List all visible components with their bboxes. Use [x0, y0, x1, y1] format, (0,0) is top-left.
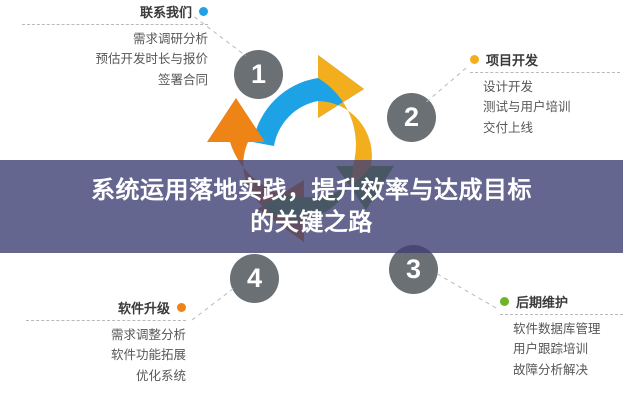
label-heading-text: 后期维护: [516, 292, 568, 311]
step-number-4: 4: [230, 254, 279, 303]
label-heading-text: 联系我们: [140, 2, 192, 21]
connector-line-3: [434, 272, 496, 308]
label-heading-text: 软件升级: [118, 298, 170, 317]
label-block-development: 项目开发 设计开发 测试与用户培训 交付上线: [470, 50, 620, 138]
step-number-2: 2: [387, 93, 436, 142]
title-overlay-band: 系统运用落地实践，提升效率与达成目标 的关键之路: [0, 160, 623, 253]
step-number-1: 1: [234, 50, 283, 99]
label-block-upgrade: 软件升级 需求调整分析 软件功能拓展 优化系统: [26, 298, 186, 386]
infographic-canvas: 1 2 3 4 联系我们 需求调研分析 预估开发时长与报价 签署合同 项目开发 …: [0, 0, 623, 400]
list-item: 需求调整分析: [26, 325, 186, 345]
label-heading-text: 项目开发: [486, 50, 538, 69]
label-heading-upgrade: 软件升级: [26, 298, 186, 320]
list-item: 故障分析解决: [513, 360, 623, 380]
bullet-dot-icon: [199, 7, 208, 16]
label-heading-development: 项目开发: [470, 50, 620, 72]
label-block-maintenance: 后期维护 软件数据库管理 用户跟踪培训 故障分析解决: [500, 292, 623, 380]
page-title-line-2: 的关键之路: [250, 207, 373, 238]
page-title-line-1: 系统运用落地实践，提升效率与达成目标: [91, 175, 532, 206]
list-item: 测试与用户培训: [483, 97, 620, 117]
list-item: 软件数据库管理: [513, 319, 623, 339]
bullet-dot-icon: [500, 297, 509, 306]
label-items-maintenance: 软件数据库管理 用户跟踪培训 故障分析解决: [500, 315, 623, 380]
list-item: 预估开发时长与报价: [22, 49, 208, 69]
label-block-contact: 联系我们 需求调研分析 预估开发时长与报价 签署合同: [22, 2, 208, 90]
list-item: 签署合同: [22, 70, 208, 90]
bullet-dot-icon: [177, 303, 186, 312]
list-item: 优化系统: [26, 366, 186, 386]
label-items-upgrade: 需求调整分析 软件功能拓展 优化系统: [26, 321, 186, 386]
list-item: 软件功能拓展: [26, 345, 186, 365]
list-item: 设计开发: [483, 77, 620, 97]
label-heading-contact: 联系我们: [22, 2, 208, 24]
list-item: 交付上线: [483, 118, 620, 138]
label-heading-maintenance: 后期维护: [500, 292, 623, 314]
label-items-contact: 需求调研分析 预估开发时长与报价 签署合同: [22, 25, 208, 90]
list-item: 需求调研分析: [22, 29, 208, 49]
label-items-development: 设计开发 测试与用户培训 交付上线: [470, 73, 620, 138]
bullet-dot-icon: [470, 55, 479, 64]
list-item: 用户跟踪培训: [513, 339, 623, 359]
